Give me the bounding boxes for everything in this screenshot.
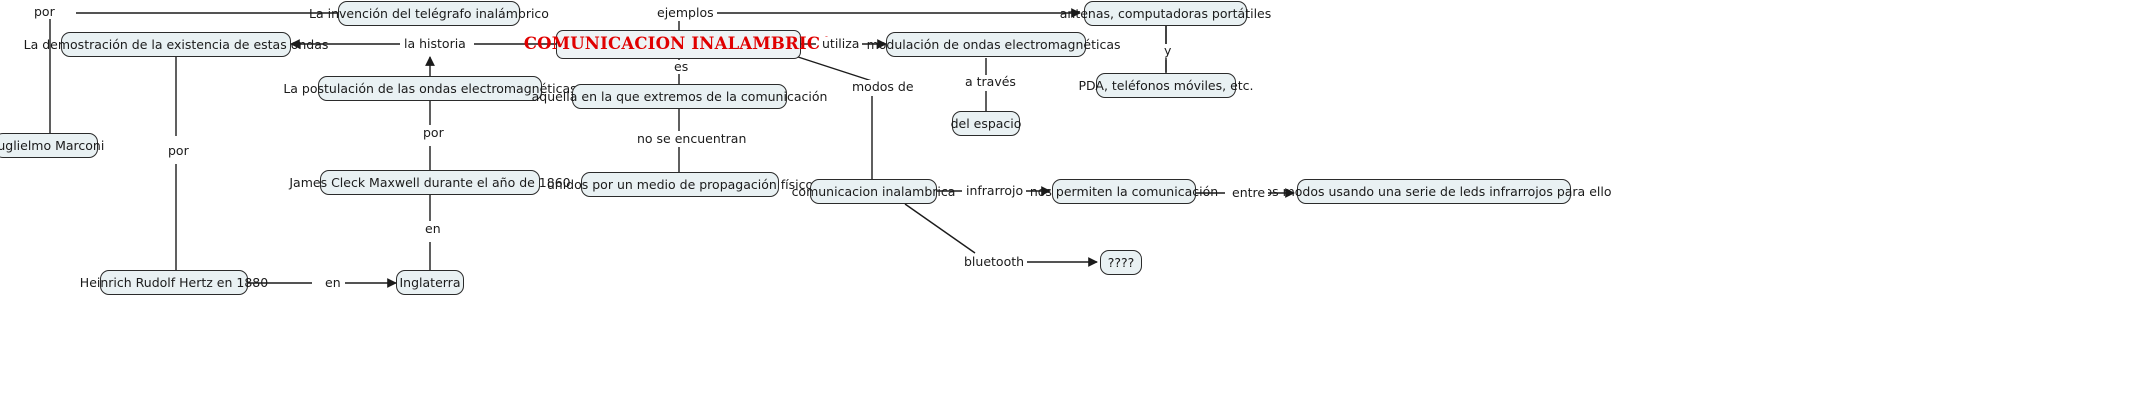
node-demostracion[interactable]: La demostración de la existencia de esta… <box>61 32 291 57</box>
edge-label-a-traves: a través <box>962 75 1019 89</box>
edge-label-es: es <box>671 60 691 74</box>
edge-label-text: infrarrojo <box>966 183 1023 198</box>
edge-label-text: en <box>325 275 341 290</box>
node-label: la modulación de ondas electromagnéticas <box>852 38 1121 52</box>
edge-label-text: ejemplos <box>657 5 714 20</box>
node-label: comunicacion inalambrica <box>792 185 956 199</box>
node-label: Guglielmo Marconi <box>0 139 104 153</box>
concept-map-canvas: La invención del telégrafo inalámbrico L… <box>0 0 2146 405</box>
edge-label-por-maxwell: por <box>420 126 447 140</box>
node-hertz[interactable]: Heinrich Rudolf Hertz en 1880 <box>100 270 248 295</box>
node-dos-modos[interactable]: dos modos usando una serie de leds infra… <box>1297 179 1571 204</box>
node-label: ???? <box>1108 256 1135 270</box>
edge-label-text: por <box>34 4 55 19</box>
node-permiten[interactable]: nos permiten la comunicación <box>1052 179 1196 204</box>
node-modulacion[interactable]: la modulación de ondas electromagnéticas <box>886 32 1086 57</box>
edge-label-text: modos de <box>852 79 914 94</box>
node-marconi[interactable]: Guglielmo Marconi <box>0 133 98 158</box>
node-label: del espacio <box>951 117 1022 131</box>
edge-label-text: en <box>425 221 441 236</box>
edge-label-entre: entre <box>1229 186 1268 200</box>
node-unidos[interactable]: unidos por un medio de propagación físic… <box>581 172 779 197</box>
node-label: dos modos usando una serie de leds infra… <box>1257 185 1612 199</box>
node-label: nos permiten la comunicación <box>1030 185 1218 199</box>
edge-label-text: la historia <box>404 36 466 51</box>
node-postulacion[interactable]: La postulación de las ondas electromagné… <box>318 76 542 101</box>
edge-label-y: y <box>1161 44 1174 58</box>
edge-label-text: entre <box>1232 185 1265 200</box>
edge-label-infrarrojo: infrarrojo <box>963 184 1026 198</box>
edge-label-la-historia: la historia <box>401 37 469 51</box>
node-label: James Cleck Maxwell durante el año de 18… <box>289 176 570 190</box>
node-maxwell[interactable]: James Cleck Maxwell durante el año de 18… <box>320 170 540 195</box>
edge-label-text: utiliza <box>822 36 859 51</box>
node-label: La invención del telégrafo inalámbrico <box>309 7 549 21</box>
edge-label-text: a través <box>965 74 1016 89</box>
node-interrogacion[interactable]: ???? <box>1100 250 1142 275</box>
edge-comunic-bluetooth <box>905 204 975 253</box>
node-label: unidos por un medio de propagación físic… <box>547 178 813 192</box>
edge-label-por-top: por <box>31 5 58 19</box>
edge-label-por-left: por <box>165 144 192 158</box>
node-label: aquella en la que extremos de la comunic… <box>532 90 828 104</box>
edge-label-modos-de: modos de <box>849 80 917 94</box>
edge-label-ejemplos: ejemplos <box>654 6 717 20</box>
edge-label-text: y <box>1164 43 1171 58</box>
node-label: PDA, teléfonos móviles, etc. <box>1078 79 1253 93</box>
node-antenas[interactable]: antenas, computadoras portátiles <box>1084 1 1247 26</box>
edge-label-en-maxwell: en <box>422 222 444 236</box>
edge-label-text: no se encuentran <box>637 131 746 146</box>
edge-label-bluetooth: bluetooth <box>961 255 1027 269</box>
edge-label-text: es <box>674 59 688 74</box>
node-invencion[interactable]: La invención del telégrafo inalámbrico <box>338 1 520 26</box>
node-aquella[interactable]: aquella en la que extremos de la comunic… <box>572 84 787 109</box>
edge-label-text: por <box>423 125 444 140</box>
node-label: Heinrich Rudolf Hertz en 1880 <box>80 276 268 290</box>
edge-central-modos <box>795 56 872 81</box>
node-espacio[interactable]: del espacio <box>952 111 1020 136</box>
node-label: COMUNICACION INALAMBRICA <box>524 35 833 53</box>
edge-label-en-hertz: en <box>322 276 344 290</box>
node-inglaterra[interactable]: Inglaterra <box>396 270 464 295</box>
node-label: antenas, computadoras portátiles <box>1060 7 1272 21</box>
edge-label-no-se-encuentran: no se encuentran <box>634 132 749 146</box>
edge-label-text: por <box>168 143 189 158</box>
node-central-comunicacion-inalambrica[interactable]: COMUNICACION INALAMBRICA <box>556 30 801 59</box>
edge-label-utiliza: utiliza <box>819 37 862 51</box>
edge-label-text: bluetooth <box>964 254 1024 269</box>
node-comunicacion-inalambrica-lower[interactable]: comunicacion inalambrica <box>810 179 937 204</box>
node-label: Inglaterra <box>400 276 461 290</box>
node-pda[interactable]: PDA, teléfonos móviles, etc. <box>1096 73 1236 98</box>
node-label: La demostración de la existencia de esta… <box>24 38 329 52</box>
